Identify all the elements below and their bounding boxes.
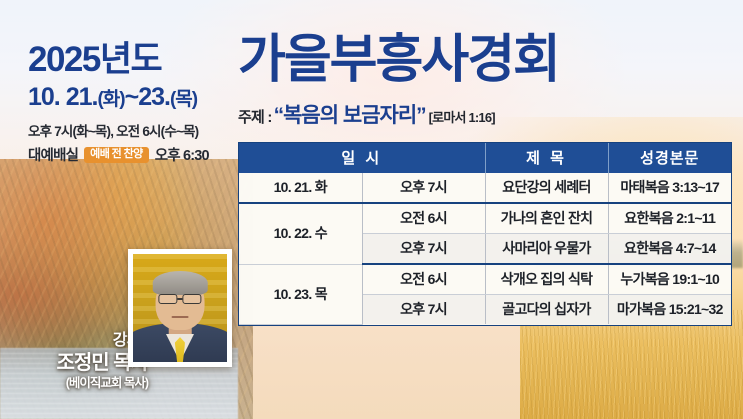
cell-date: 10. 22. 수 xyxy=(239,203,362,264)
portrait-hair-shape xyxy=(153,271,208,295)
schedule-head: 일 시 제 목 성경본문 xyxy=(239,143,731,173)
table-row: 10. 21. 화 오후 7시 요단강의 세례터 마태복음 3:13~17 xyxy=(239,173,731,203)
portrait-glasses-icon xyxy=(158,294,201,304)
cell-verse: 요한복음 4:7~14 xyxy=(608,234,731,265)
cell-verse: 요한복음 2:1~11 xyxy=(608,203,731,234)
praise-time: 오후 6:30 xyxy=(155,144,209,165)
speaker-block: 강사 : 조정민 목사 (베이직교회 목사) xyxy=(14,253,232,401)
date-start-weekday: (화) xyxy=(97,89,124,110)
revival-meeting-poster: 2025년도 10. 21.(화)~23.(목) 오후 7시(화~목), 오전 … xyxy=(0,0,743,419)
cell-verse: 마태복음 3:13~17 xyxy=(608,173,731,203)
cell-topic: 삭개오 집의 식탁 xyxy=(485,264,608,295)
cell-time: 오후 7시 xyxy=(362,295,485,325)
column-header-datetime: 일 시 xyxy=(239,143,485,173)
table-row: 10. 23. 목 오전 6시 삭개오 집의 식탁 누가복음 19:1~10 xyxy=(239,264,731,295)
event-times: 오후 7시(화~목), 오전 6시(수~목) xyxy=(28,120,238,140)
venue-and-praise-row: 대예배실 예배 전 찬양 오후 6:30 xyxy=(28,144,238,165)
cell-time: 오전 6시 xyxy=(362,264,485,295)
cell-verse: 마가복음 15:21~32 xyxy=(608,295,731,325)
cell-topic: 요단강의 세례터 xyxy=(485,173,608,203)
theme-reference: [로마서 1:16] xyxy=(429,107,495,126)
cell-topic: 가나의 혼인 잔치 xyxy=(485,203,608,234)
date-start: 10. 21. xyxy=(28,83,97,111)
schedule-table-wrapper: 일 시 제 목 성경본문 10. 21. 화 오후 7시 요단강의 세례터 마태… xyxy=(238,142,732,326)
event-year: 2025년도 xyxy=(28,42,238,77)
cell-time: 오후 7시 xyxy=(362,173,485,203)
main-content-block: 가을부흥사경회 주제 : “복음의 보금자리” [로마서 1:16] 일 시 제… xyxy=(238,34,732,326)
schedule-body: 10. 21. 화 오후 7시 요단강의 세례터 마태복음 3:13~17 10… xyxy=(239,173,731,324)
portrait-mouth-shape xyxy=(172,316,189,318)
cell-topic: 사마리아 우물가 xyxy=(485,234,608,265)
venue-label: 대예배실 xyxy=(28,144,78,165)
theme-label: 주제 : xyxy=(238,106,272,127)
table-row: 10. 22. 수 오전 6시 가나의 혼인 잔치 요한복음 2:1~11 xyxy=(239,203,731,234)
event-date-range: 10. 21.(화)~23.(목) xyxy=(28,85,238,110)
cell-time: 오후 7시 xyxy=(362,234,485,265)
date-end-weekday: (목) xyxy=(170,89,197,110)
speaker-affiliation: (베이직교회 목사) xyxy=(14,375,148,391)
theme-text: “복음의 보금자리” xyxy=(274,99,426,129)
cell-topic: 골고다의 십자가 xyxy=(485,295,608,325)
schedule-table: 일 시 제 목 성경본문 10. 21. 화 오후 7시 요단강의 세례터 마태… xyxy=(239,143,731,325)
column-header-verse: 성경본문 xyxy=(608,143,731,173)
event-info-block: 2025년도 10. 21.(화)~23.(목) 오후 7시(화~목), 오전 … xyxy=(28,42,238,165)
date-end: ~23. xyxy=(125,83,170,111)
pre-service-praise-badge: 예배 전 찬양 xyxy=(84,147,149,163)
cell-verse: 누가복음 19:1~10 xyxy=(608,264,731,295)
speaker-portrait-photo xyxy=(133,254,227,362)
table-header-row: 일 시 제 목 성경본문 xyxy=(239,143,731,173)
theme-row: 주제 : “복음의 보금자리” [로마서 1:16] xyxy=(238,99,732,129)
column-header-topic: 제 목 xyxy=(485,143,608,173)
cell-time: 오전 6시 xyxy=(362,203,485,234)
speaker-portrait-frame xyxy=(128,249,232,367)
cell-date: 10. 23. 목 xyxy=(239,264,362,324)
page-title: 가을부흥사경회 xyxy=(238,34,732,86)
cell-date: 10. 21. 화 xyxy=(239,173,362,203)
